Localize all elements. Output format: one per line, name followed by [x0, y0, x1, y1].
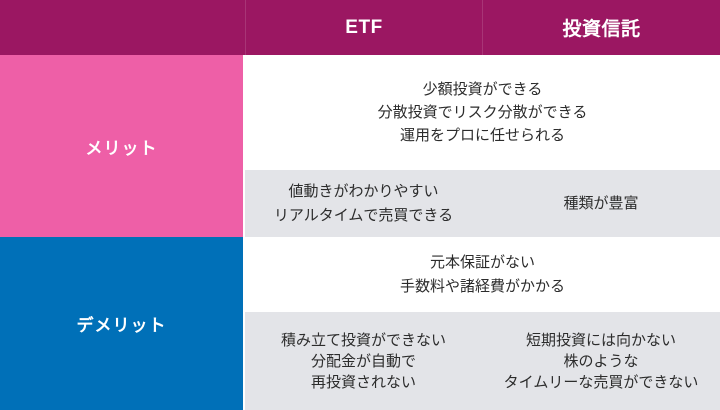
merit-shared-line-3: 運用をプロに任せられる [400, 124, 565, 147]
demerit-fund-line-3: タイムリーな売買ができない [504, 373, 699, 393]
merit-etf-cell: 値動きがわかりやすい リアルタイムで売買できる [245, 170, 482, 237]
demerit-fund-cell: 短期投資には向かない 株のような タイムリーな売買ができない [482, 312, 720, 410]
demerit-shared-cell: 元本保証がない 手数料や諸経費がかかる [245, 237, 720, 312]
section-label-merit: メリット [0, 55, 243, 237]
demerit-etf-line-2: 分配金が自動で [311, 352, 416, 372]
table-header-corner [0, 0, 245, 55]
comparison-table: ETF 投資信託 メリット 少額投資ができる 分散投資でリスク分散ができる 運用… [0, 0, 720, 410]
demerit-etf-line-1: 積み立て投資ができない [281, 329, 446, 352]
demerit-shared-line-2: 手数料や諸経費がかかる [400, 275, 565, 298]
demerit-fund-line-1: 短期投資には向かない [526, 329, 676, 352]
merit-fund-cell: 種類が豊富 [482, 170, 720, 237]
merit-shared-line-2: 分散投資でリスク分散ができる [378, 101, 588, 124]
demerit-etf-cell: 積み立て投資ができない 分配金が自動で 再投資されない [245, 312, 482, 410]
merit-fund-line-1: 種類が豊富 [563, 192, 638, 215]
column-header-etf: ETF [245, 0, 482, 55]
merit-shared-cell: 少額投資ができる 分散投資でリスク分散ができる 運用をプロに任せられる [245, 55, 720, 170]
section-label-demerit: デメリット [0, 237, 243, 410]
column-header-toushishintaku: 投資信託 [482, 0, 720, 55]
merit-etf-line-1: 値動きがわかりやすい [288, 180, 438, 203]
merit-etf-line-2: リアルタイムで売買できる [274, 204, 453, 227]
merit-shared-line-1: 少額投資ができる [423, 78, 543, 101]
demerit-fund-line-2: 株のような [563, 352, 638, 372]
demerit-etf-line-3: 再投資されない [311, 373, 416, 393]
demerit-shared-line-1: 元本保証がない [430, 251, 535, 274]
